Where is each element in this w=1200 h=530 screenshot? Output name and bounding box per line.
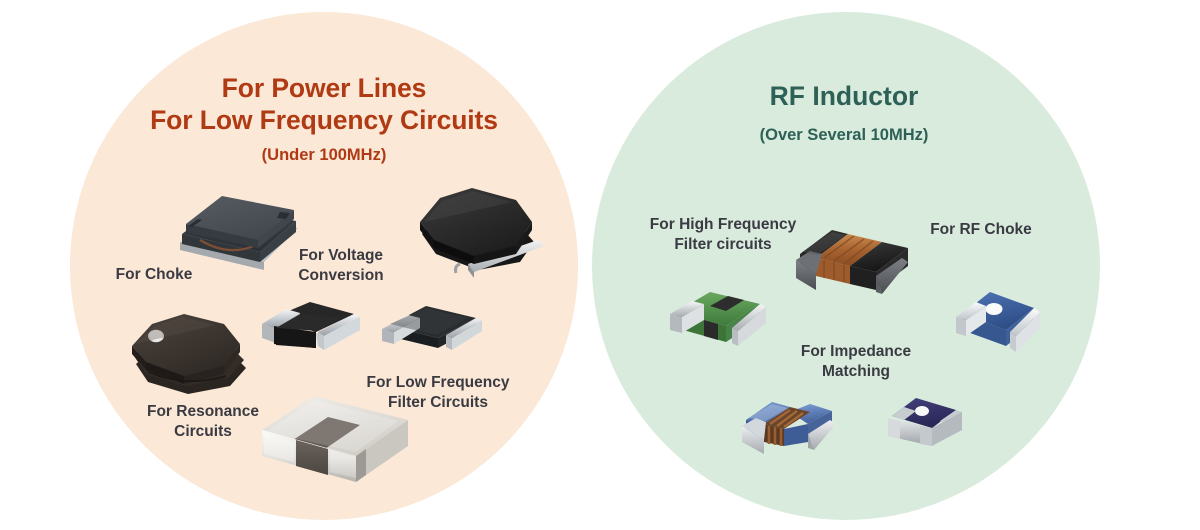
molded-power-inductor-black [416, 172, 552, 288]
rf-heading-line1: RF Inductor [770, 81, 919, 111]
power-heading: For Power Lines For Low Frequency Circui… [140, 72, 508, 137]
label-for-resonance-line1: For Resonance [142, 402, 264, 422]
rf-subtitle: (Over Several 10MHz) [660, 126, 1028, 145]
label-for-voltage-line2: Conversion [282, 266, 400, 286]
label-rfchoke-line1: For RF Choke [928, 220, 1034, 240]
label-for-impedance-matching: For Impedance Matching [792, 342, 920, 382]
power-heading-line2: For Low Frequency Circuits [140, 104, 508, 136]
label-highfreq-line2: Filter circuits [646, 235, 800, 255]
octagonal-inductor-dark-brown [126, 296, 260, 404]
chip-inductor-dark-0603 [376, 296, 488, 362]
wirewound-chip-inductor-blue [736, 390, 850, 468]
power-subtitle: (Under 100MHz) [140, 146, 508, 165]
rf-heading: RF Inductor [660, 80, 1028, 112]
label-for-low-frequency-filter-circuits: For Low Frequency Filter Circuits [365, 373, 511, 413]
wirewound-chip-inductor-copper [790, 214, 922, 304]
label-for-rf-choke: For RF Choke [928, 220, 1034, 240]
infographic-canvas: For Power Lines For Low Frequency Circui… [0, 0, 1200, 530]
label-highfreq-line1: For High Frequency [646, 215, 800, 235]
label-impedance-line2: Matching [792, 362, 920, 382]
label-for-high-frequency-filter-circuits: For High Frequency Filter circuits [646, 215, 800, 255]
chip-inductor-black-0805 [256, 296, 364, 364]
label-for-voltage-line1: For Voltage [282, 246, 400, 266]
label-for-resonance-circuits: For Resonance Circuits [142, 402, 264, 442]
label-for-lowfreq-line2: Filter Circuits [365, 393, 511, 413]
chip-inductor-navy-dot-small [882, 390, 974, 458]
label-for-choke: For Choke [108, 265, 200, 285]
label-for-choke-line1: For Choke [108, 265, 200, 285]
power-heading-line1: For Power Lines [140, 72, 508, 104]
label-for-voltage-conversion: For Voltage Conversion [282, 246, 400, 286]
label-impedance-line1: For Impedance [792, 342, 920, 362]
label-for-resonance-line2: Circuits [142, 422, 264, 442]
chip-inductor-green [666, 284, 770, 352]
chip-inductor-blue-dot [952, 284, 1044, 362]
label-for-lowfreq-line1: For Low Frequency [365, 373, 511, 393]
